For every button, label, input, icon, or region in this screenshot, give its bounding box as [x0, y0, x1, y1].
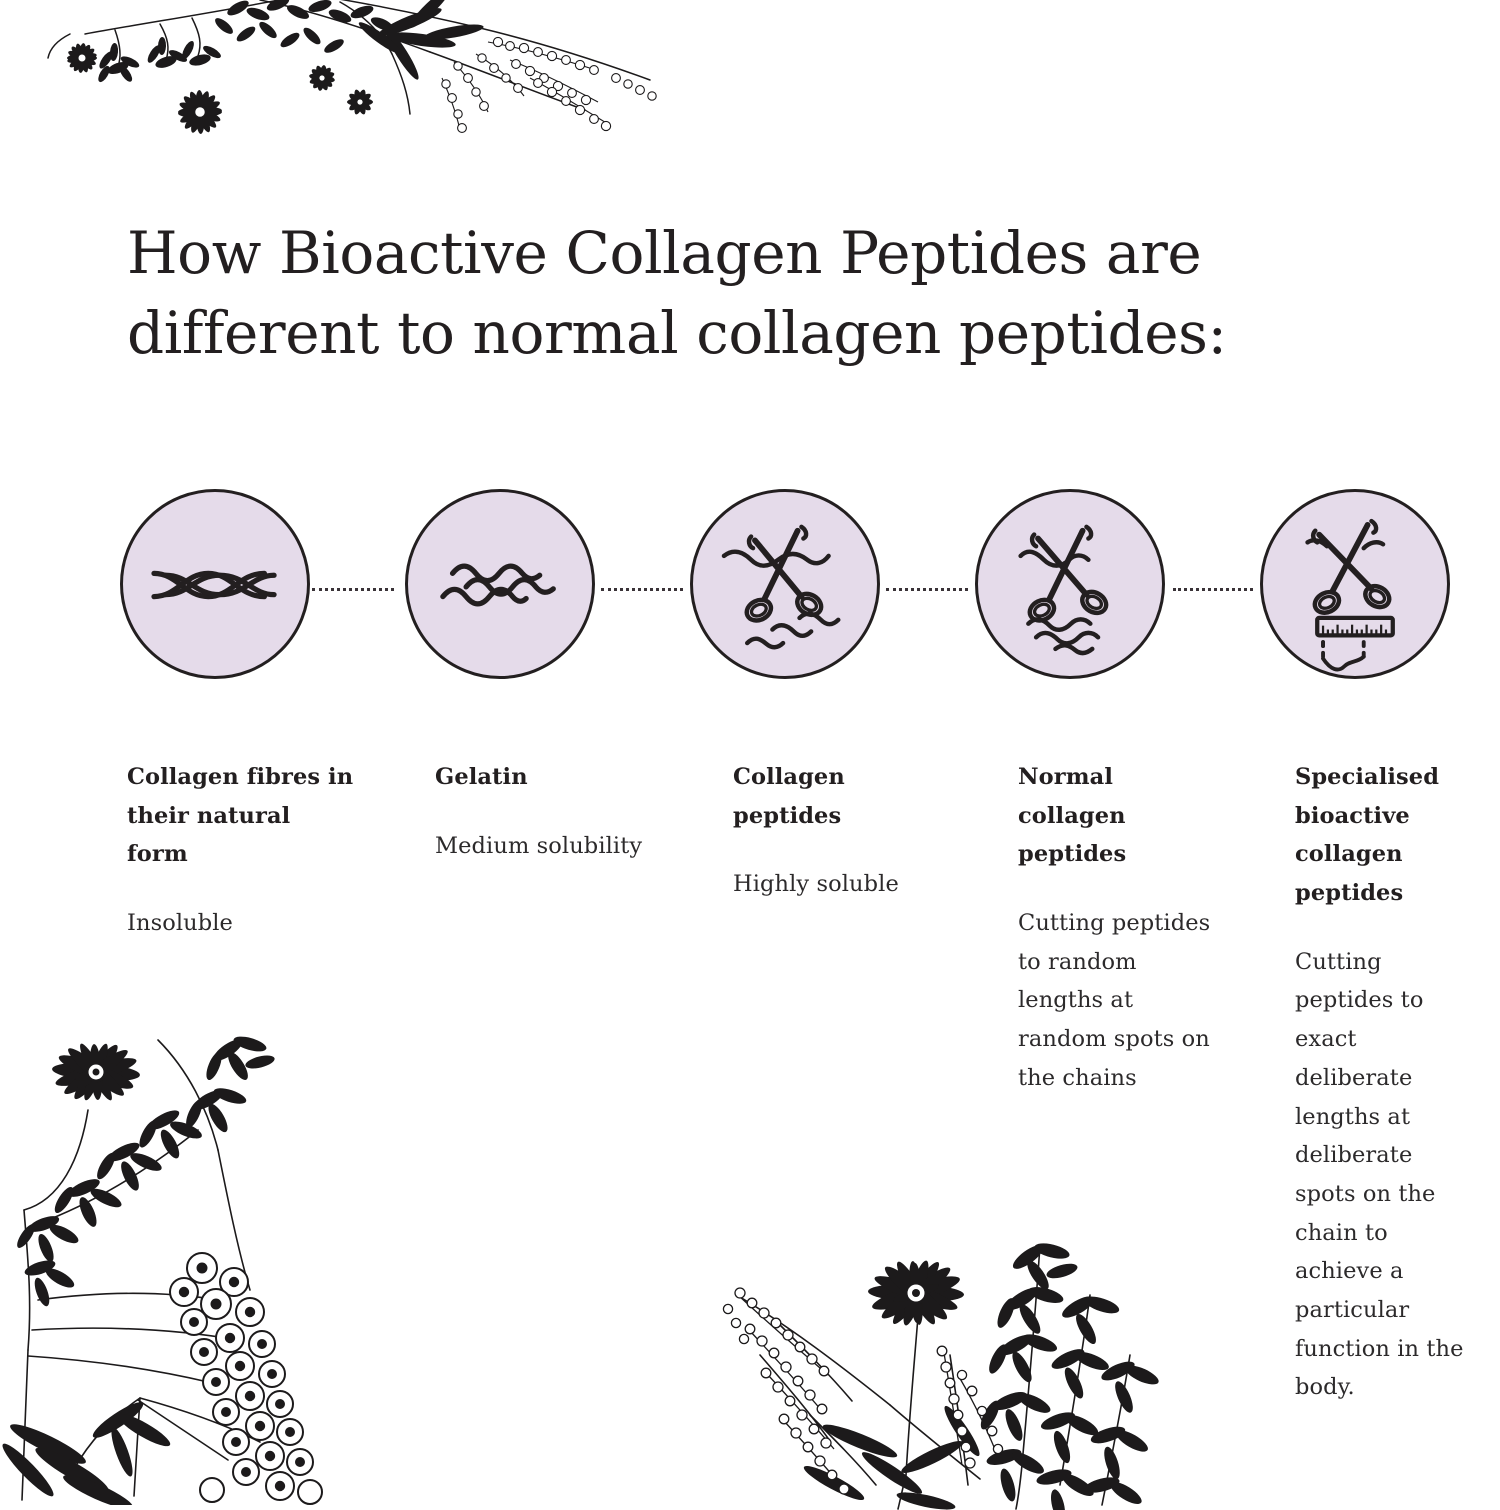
step-icon-circle-2: [405, 489, 595, 679]
step-icon-circle-1: [120, 489, 310, 679]
connector-1-2: [312, 588, 394, 595]
step-text-2: Gelatin Medium solubility: [435, 758, 645, 865]
step-body-3: Highly soluble: [733, 865, 933, 904]
step-heading-3: Collagen peptides: [733, 758, 933, 835]
step-text-3: Collagen peptides Highly soluble: [733, 758, 933, 904]
ruler-icon: [1317, 618, 1393, 635]
step-heading-5: Specialised bioactive collagen peptides: [1295, 758, 1475, 913]
wavy-strands-icon: [408, 492, 592, 676]
scissors-ruler-measured-icon: [1263, 492, 1447, 676]
step-text-5: Specialised bioactive collagen peptides …: [1295, 758, 1475, 1407]
infographic-canvas: How Bioactive Collagen Peptides are diff…: [0, 0, 1500, 1500]
step-body-5: Cutting peptides to exact deliberate len…: [1295, 943, 1475, 1407]
connector-3-4: [886, 588, 968, 595]
step-icon-circle-3: [690, 489, 880, 679]
step-body-4: Cutting peptides to random lengths at ra…: [1018, 904, 1228, 1097]
page-title-line-2: different to normal collagen peptides:: [127, 293, 1397, 373]
botanical-illustration-bottom-center: [710, 1235, 1180, 1510]
step-icon-circle-5: [1260, 489, 1450, 679]
step-heading-2: Gelatin: [435, 758, 645, 797]
step-icon-circle-4: [975, 489, 1165, 679]
botanical-illustration-bottom-left: [0, 1000, 338, 1505]
page-title-line-1: How Bioactive Collagen Peptides are: [127, 213, 1397, 293]
step-text-1: Collagen fibres in their natural form In…: [127, 758, 357, 943]
step-body-1: Insoluble: [127, 904, 357, 943]
scissors-cutting-strand-icon: [693, 492, 877, 676]
twisted-collagen-fibres-icon: [123, 492, 307, 676]
step-heading-1: Collagen fibres in their natural form: [127, 758, 357, 874]
step-text-4: Normal collagen peptides Cutting peptide…: [1018, 758, 1228, 1098]
botanical-illustration-top: [10, 0, 670, 167]
step-heading-4: Normal collagen peptides: [1018, 758, 1228, 874]
connector-2-3: [601, 588, 683, 595]
step-body-2: Medium solubility: [435, 827, 645, 866]
page-title: How Bioactive Collagen Peptides are diff…: [127, 213, 1397, 373]
scissors-random-fragments-icon: [978, 492, 1162, 676]
connector-4-5: [1173, 588, 1253, 595]
